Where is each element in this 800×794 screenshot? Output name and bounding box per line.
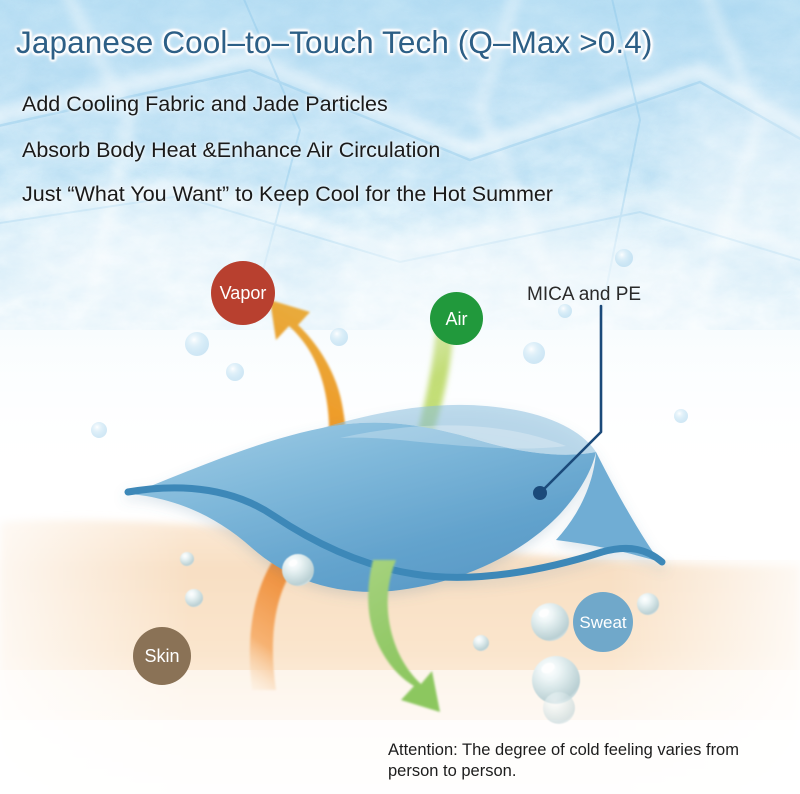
attention-note: Attention: The degree of cold feeling va…: [388, 740, 788, 782]
badge-vapor-label: Vapor: [220, 284, 267, 302]
subtitle-line-2: Absorb Body Heat &Enhance Air Circulatio…: [22, 138, 440, 163]
badge-sweat-label: Sweat: [579, 614, 626, 631]
badge-skin: Skin: [133, 627, 191, 685]
callout-label-mica-and-pe: MICA and PE: [527, 284, 641, 306]
poster-root: Japanese Cool–to–Touch Tech (Q–Max >0.4)…: [0, 0, 800, 794]
badge-vapor: Vapor: [211, 261, 275, 325]
badge-air: Air: [430, 292, 483, 345]
badge-sweat: Sweat: [573, 592, 633, 652]
badge-air-label: Air: [446, 310, 468, 328]
subtitle-line-1: Add Cooling Fabric and Jade Particles: [22, 92, 388, 117]
leader-dot-icon: [533, 486, 547, 500]
badge-skin-label: Skin: [144, 647, 179, 665]
page-title: Japanese Cool–to–Touch Tech (Q–Max >0.4): [16, 24, 800, 61]
subtitle-line-3: Just “What You Want” to Keep Cool for th…: [22, 182, 553, 207]
cooling-diagram: [0, 0, 800, 794]
cooling-fabric-sheet: [128, 405, 662, 596]
